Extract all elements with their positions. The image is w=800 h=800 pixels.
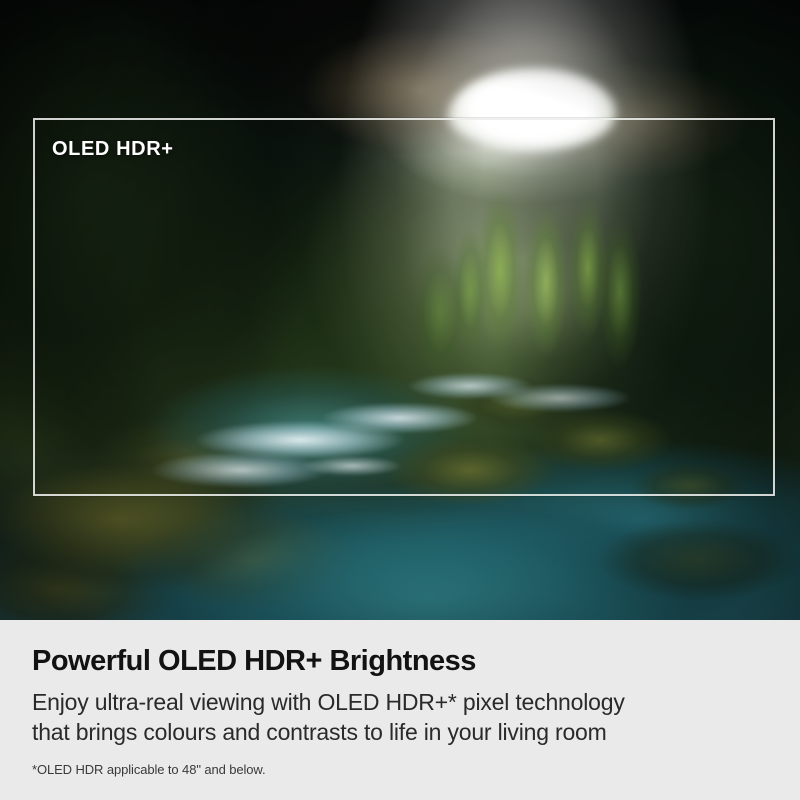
product-feature-card: OLED HDR+ Powerful OLED HDR+ Brightness …: [0, 0, 800, 800]
body-copy-line-2: that brings colours and contrasts to lif…: [32, 718, 768, 748]
body-copy: Enjoy ultra-real viewing with OLED HDR+*…: [32, 688, 768, 748]
footnote-disclaimer: *OLED HDR applicable to 48" and below.: [32, 762, 768, 777]
oled-hdr-plus-badge: OLED HDR+: [52, 138, 174, 161]
body-copy-line-1: Enjoy ultra-real viewing with OLED HDR+*…: [32, 688, 768, 718]
copy-panel: Powerful OLED HDR+ Brightness Enjoy ultr…: [0, 620, 800, 800]
cave-scene-photo: [0, 0, 800, 620]
vignette-layer: [0, 0, 800, 620]
headline: Powerful OLED HDR+ Brightness: [32, 646, 768, 677]
hero-image: OLED HDR+: [0, 0, 800, 620]
